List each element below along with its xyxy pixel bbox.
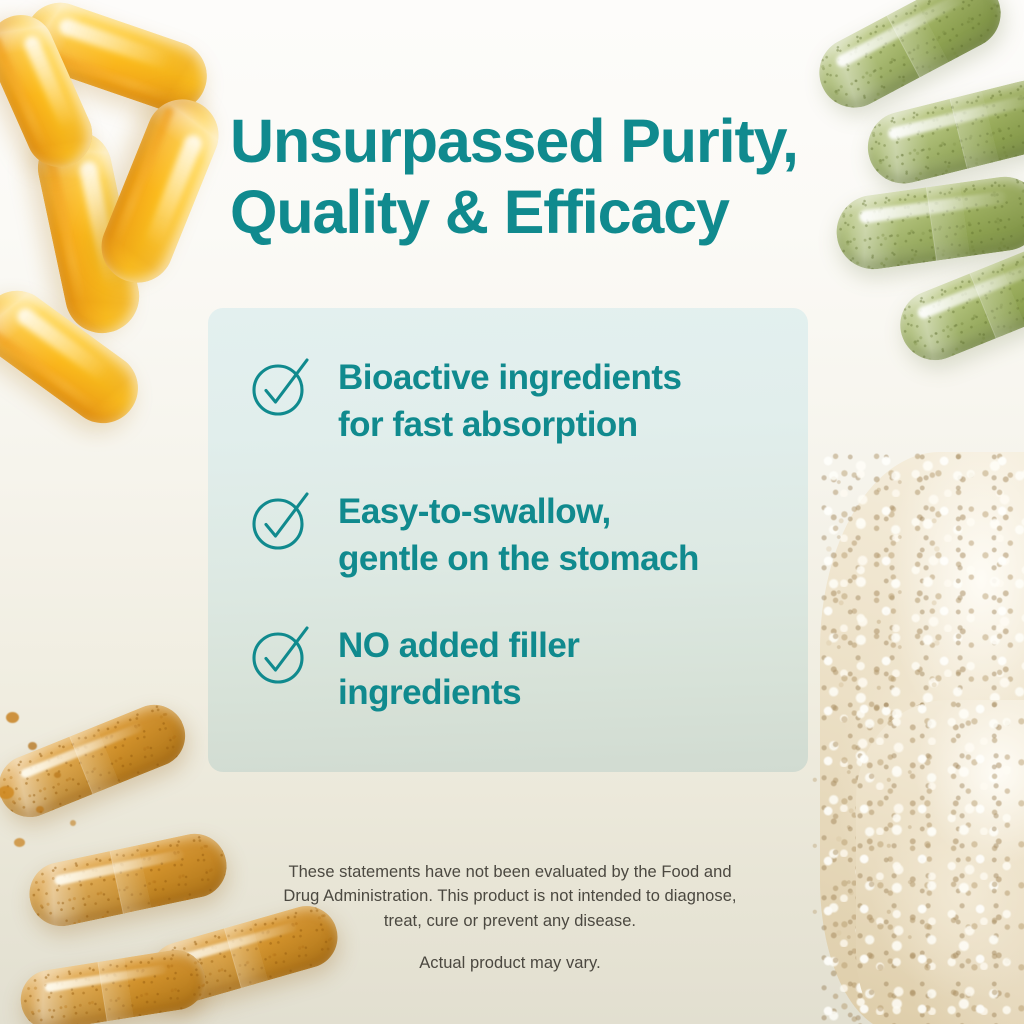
check-circle-icon: [248, 488, 314, 554]
check-circle-icon: [248, 622, 314, 688]
page-title: Unsurpassed Purity, Quality & Efficacy: [230, 106, 830, 248]
list-item: Easy-to-swallow, gentle on the stomach: [248, 486, 786, 582]
benefit-label: Easy-to-swallow, gentle on the stomach: [338, 486, 699, 582]
list-item: Bioactive ingredients for fast absorptio…: [248, 352, 786, 448]
benefit-label: Bioactive ingredients for fast absorptio…: [338, 352, 681, 448]
product-benefits-graphic: Unsurpassed Purity, Quality & Efficacy B…: [0, 0, 1024, 1024]
benefit-label: NO added filler ingredients: [338, 620, 579, 716]
list-item: NO added filler ingredients: [248, 620, 786, 716]
benefits-card: Bioactive ingredients for fast absorptio…: [208, 308, 808, 772]
benefits-list: Bioactive ingredients for fast absorptio…: [248, 352, 786, 716]
fda-disclaimer: These statements have not been evaluated…: [210, 860, 810, 934]
product-variation-note: Actual product may vary.: [210, 951, 810, 976]
check-circle-icon: [248, 354, 314, 420]
